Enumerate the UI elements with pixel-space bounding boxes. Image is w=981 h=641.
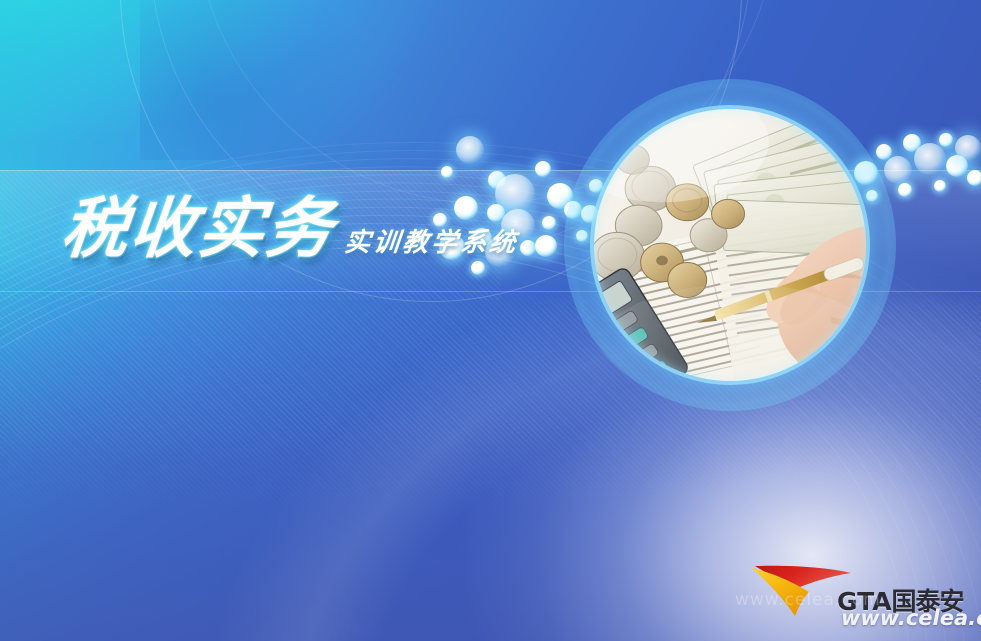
brand-logo[interactable]: GTA国泰安 www.celea.com (745, 556, 975, 634)
bubble (456, 136, 484, 164)
bubble (535, 235, 557, 257)
bubble (884, 156, 912, 184)
splash-screen: 税收实务 实训教学系统 (0, 0, 981, 641)
page-title: 税收实务 (59, 196, 338, 262)
bubble (914, 143, 946, 175)
bubble (441, 166, 453, 178)
page-subtitle: 实训教学系统 (342, 230, 519, 262)
bubble (967, 170, 981, 186)
bubble (471, 261, 485, 275)
bubble (955, 135, 981, 161)
bubble (934, 180, 946, 192)
bubble (535, 161, 551, 177)
bubble (542, 216, 556, 230)
bubble (520, 240, 536, 256)
hero-photo (590, 105, 870, 385)
brand-website[interactable]: www.celea.com (841, 606, 981, 630)
bubble (939, 133, 953, 147)
hero-photo-ring (590, 105, 870, 385)
title-block: 税收实务 实训教学系统 (62, 196, 518, 262)
bubble (898, 183, 912, 197)
